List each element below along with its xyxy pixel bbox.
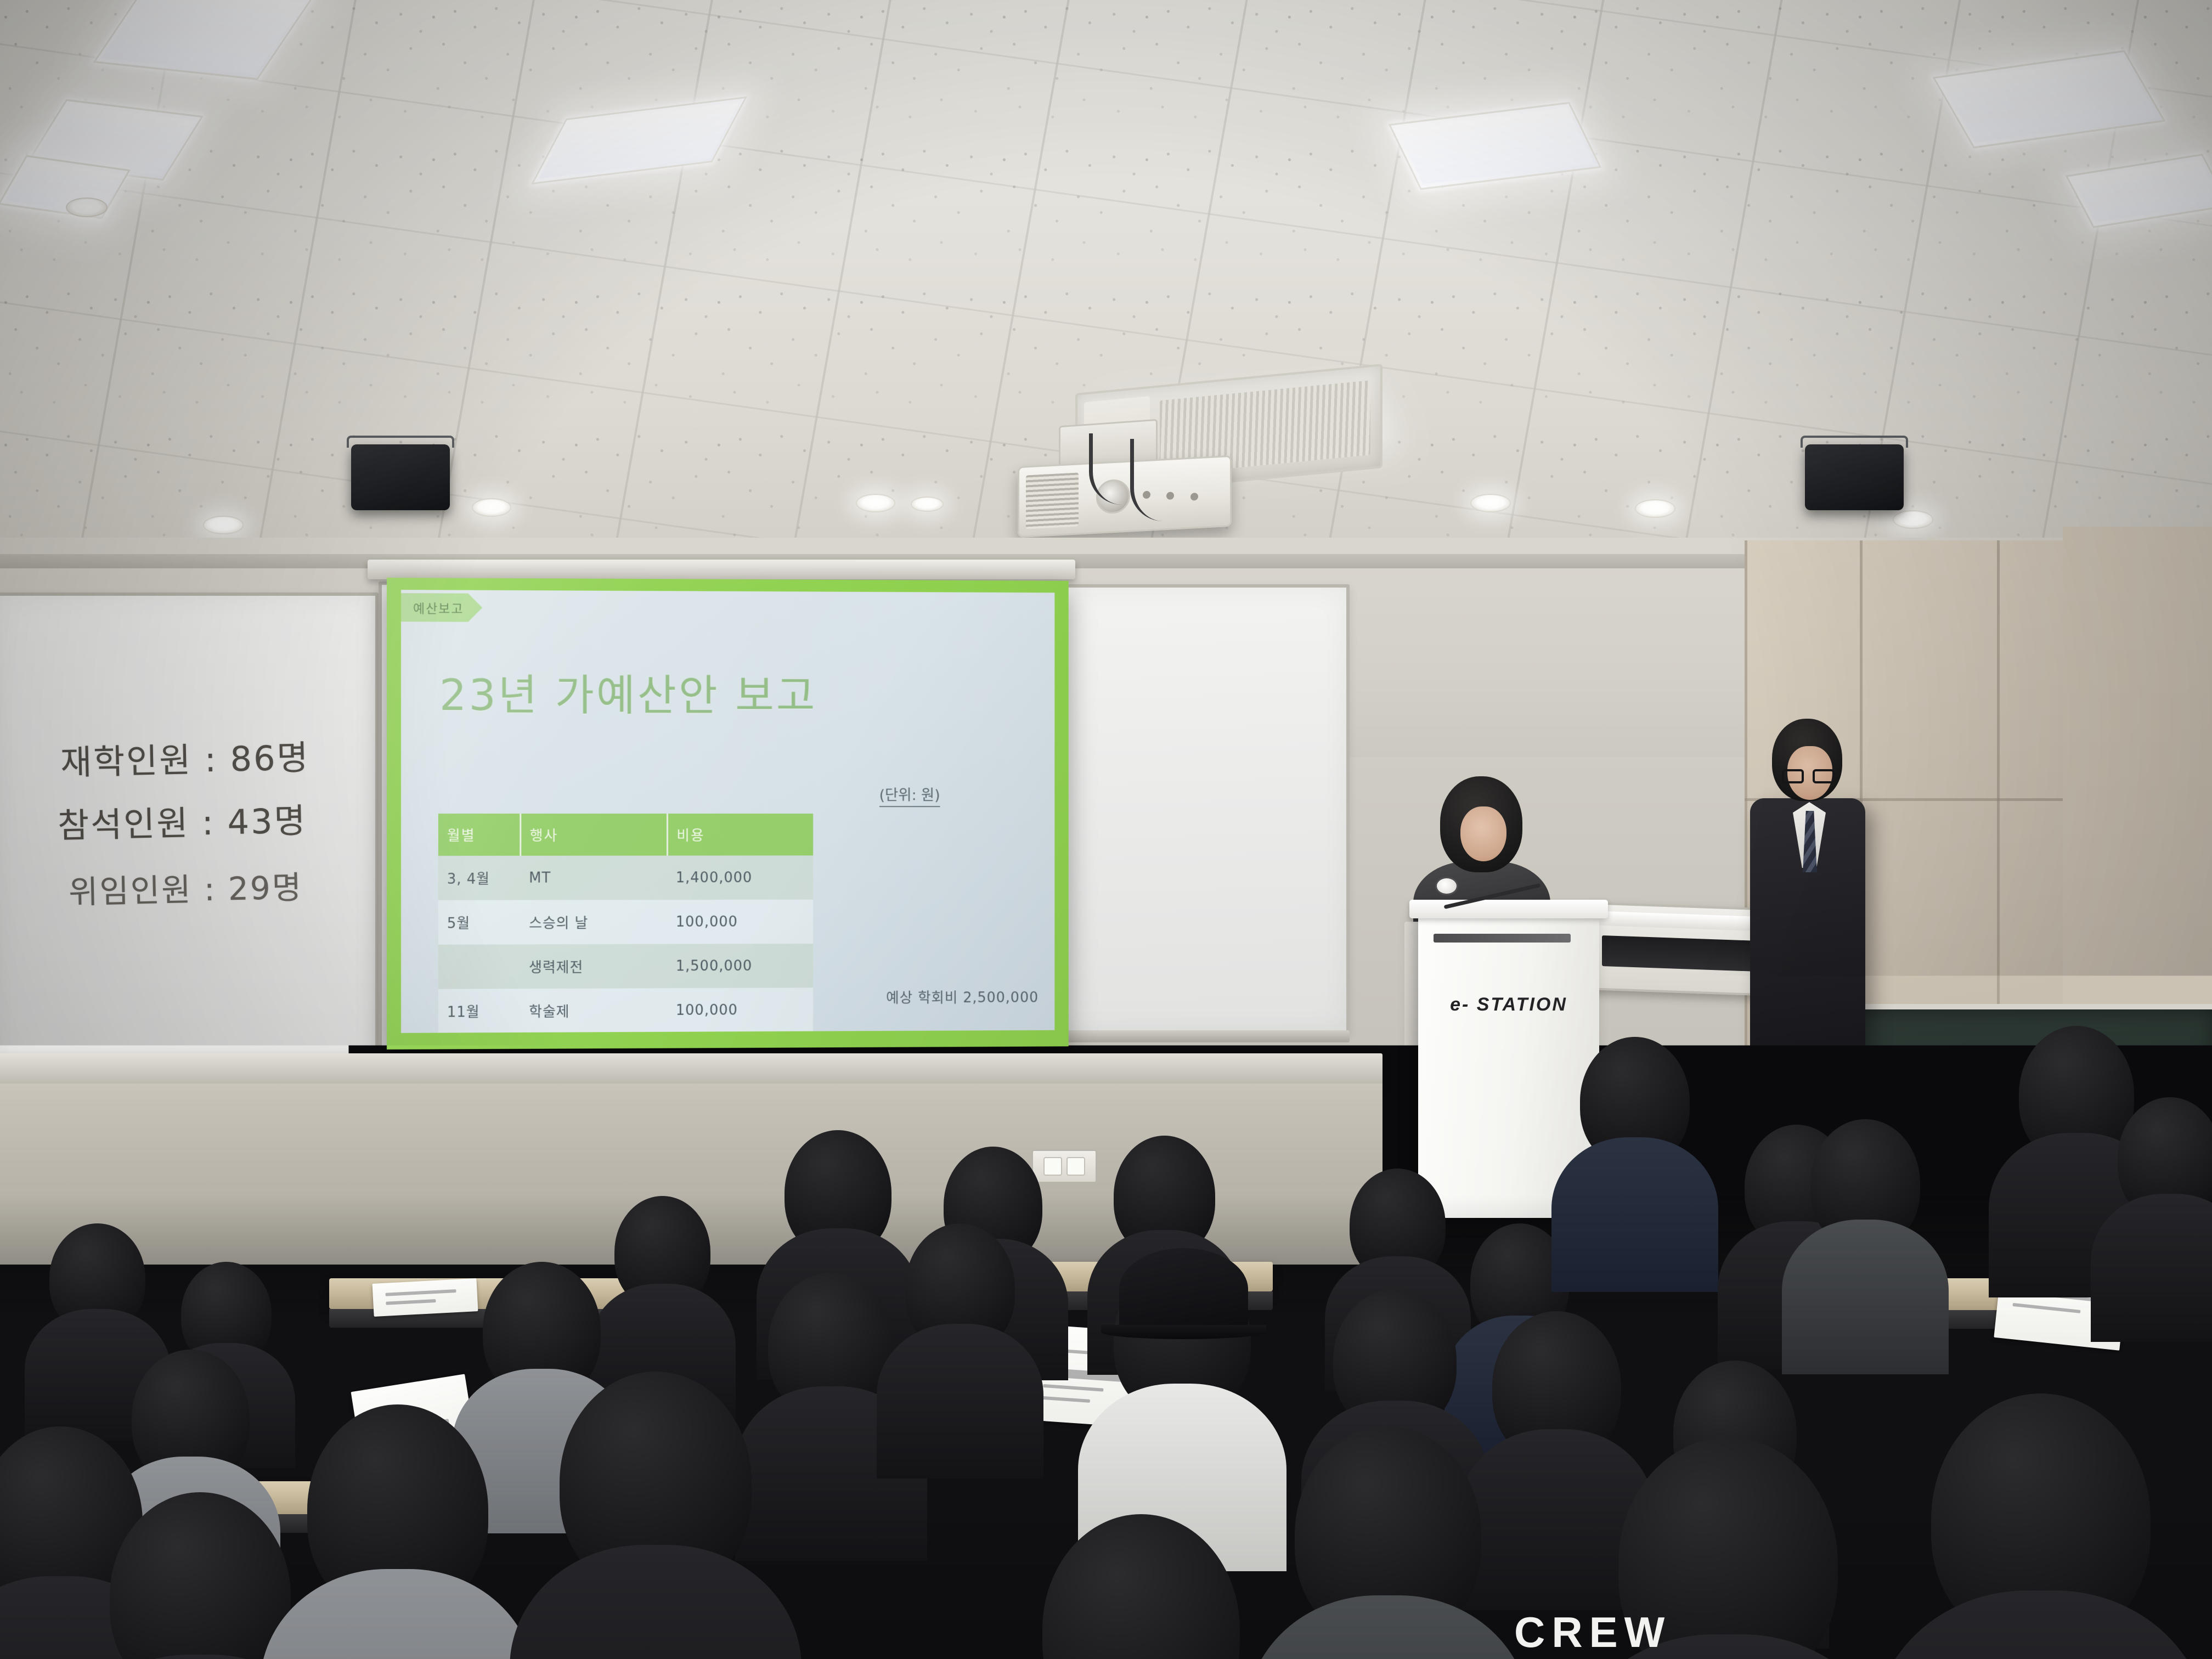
cap-brim — [1101, 1325, 1266, 1339]
podium-stripe — [1434, 934, 1571, 943]
ceiling-downlight — [1893, 510, 1933, 529]
audience-member — [905, 1223, 1015, 1352]
audience-member — [1350, 1169, 1446, 1281]
audience-member — [307, 1404, 488, 1616]
cell-event: MT — [520, 856, 667, 900]
shoulders — [1782, 1220, 1949, 1374]
podium-logo: e- STATION — [1418, 994, 1599, 1015]
slide-canvas: 예산보고 23년 가예산안 보고 (단위: 원) 월별 행사 비용 3, 4월 — [401, 590, 1054, 1033]
audience-member — [1042, 1514, 1240, 1659]
table-row: 3, 4월 MT 1,400,000 — [438, 855, 813, 900]
slide-unit-note: (단위: 원) — [879, 783, 940, 808]
handout-text-line — [1043, 1384, 1103, 1392]
audience-member — [2118, 1097, 2212, 1221]
audience-member — [2019, 1026, 2134, 1163]
handout-text-line — [386, 1299, 436, 1305]
ceiling-downlight — [1635, 499, 1675, 518]
speaker-bracket — [347, 436, 454, 448]
ceiling-projector — [1018, 455, 1232, 538]
audience-member — [1492, 1311, 1621, 1462]
projector-port — [1190, 493, 1198, 501]
speaker-bracket — [1801, 436, 1908, 448]
projection-screen-housing — [368, 560, 1075, 579]
rack-shelf — [1593, 911, 1767, 931]
head — [1042, 1514, 1240, 1659]
cell-event: 학술제 — [520, 988, 667, 1033]
cell-cost: 100,000 — [667, 900, 813, 944]
cell-month — [438, 1033, 520, 1049]
whiteboard-line-proxy: 위임인원 : 29명 — [68, 862, 303, 913]
whiteboard-right[interactable] — [1042, 584, 1350, 1034]
projector-vent-grill — [1026, 472, 1079, 529]
projection-screen: 예산보고 23년 가예산안 보고 (단위: 원) 월별 행사 비용 3, 4월 — [387, 578, 1069, 1049]
audience-member — [1931, 1393, 2151, 1646]
audience-member — [785, 1481, 988, 1659]
table-row: 농학인의 밤 1,000,000 — [438, 1032, 813, 1049]
column-header-event: 행사 — [520, 814, 667, 856]
printed-handout[interactable] — [373, 1278, 478, 1317]
handout-text-line — [2012, 1303, 2080, 1313]
cell-event: 농학인의 밤 — [520, 1032, 667, 1049]
audience-member — [768, 1273, 894, 1418]
lens-left — [1782, 769, 1804, 783]
slide-section-badge: 예산보고 — [401, 593, 482, 622]
column-header-cost: 비용 — [667, 814, 813, 856]
ceiling-downlight — [203, 516, 244, 534]
shoulders — [1551, 1137, 1718, 1292]
rack-equipment-slot — [1602, 935, 1758, 972]
wall-speaker — [351, 444, 450, 510]
ceiling-downlight — [856, 494, 895, 512]
eyeglasses-icon — [1782, 769, 1835, 783]
microphone-head — [1435, 877, 1458, 895]
whiteboard-line-enrolled: 재학인원 : 86명 — [60, 730, 310, 784]
audience-member — [1114, 1136, 1215, 1256]
presentation-slide: 예산보고 23년 가예산안 보고 (단위: 원) 월별 행사 비용 3, 4월 — [387, 578, 1069, 1049]
ceiling-downlight — [911, 496, 944, 512]
hoodie-crew-text: CREW — [1514, 1607, 1671, 1657]
handout-text-line — [1042, 1396, 1091, 1403]
outlet-socket — [1066, 1157, 1085, 1176]
outlet-socket — [1043, 1157, 1062, 1176]
table-row: 11월 학술제 100,000 — [438, 988, 813, 1033]
ceiling-downlight — [472, 498, 511, 517]
audience-member — [785, 1130, 891, 1256]
presenter-face — [1460, 806, 1506, 861]
baseball-cap — [1119, 1248, 1248, 1330]
cell-cost: 100,000 — [667, 988, 813, 1032]
audience-member — [560, 1372, 752, 1594]
ceiling-downlight — [66, 198, 108, 217]
microphone-arm — [1444, 883, 1541, 909]
audience-member — [1295, 1426, 1481, 1643]
cell-event: 스승의 날 — [520, 900, 667, 944]
slide-title: 23년 가예산안 보고 — [439, 661, 817, 723]
cell-cost: 1,400,000 — [667, 855, 813, 900]
budget-table: 월별 행사 비용 3, 4월 MT 1,400,000 5월 — [438, 814, 813, 1049]
head — [110, 1492, 291, 1659]
table-row: 생력제전 1,500,000 — [438, 944, 813, 989]
cell-cost: 1,000,000 — [667, 1032, 813, 1049]
head — [785, 1481, 988, 1659]
shoulders — [877, 1324, 1043, 1479]
av-equipment-rack — [1591, 902, 1769, 996]
cell-month: 3, 4월 — [438, 856, 520, 900]
wall-speaker — [1805, 444, 1904, 510]
wall-seam — [1745, 540, 1747, 1122]
audience-member — [614, 1196, 710, 1308]
column-header-month: 월별 — [438, 814, 520, 856]
audience-member — [1580, 1037, 1690, 1166]
handout-text-line — [385, 1289, 456, 1296]
cell-month — [438, 944, 520, 989]
audience-member — [132, 1350, 250, 1487]
cell-event: 생력제전 — [520, 944, 667, 989]
audience-member — [1333, 1289, 1457, 1432]
audience-member — [110, 1492, 291, 1659]
ceiling-downlight — [1470, 494, 1511, 512]
table-header-row: 월별 행사 비용 — [438, 814, 813, 856]
table-row: 5월 스승의 날 100,000 — [438, 900, 813, 945]
audience-member — [49, 1223, 145, 1333]
slide-footer-note: 예상 학회비 2,500,000 — [886, 986, 1039, 1007]
cell-month: 5월 — [438, 900, 520, 945]
whiteboard-line-attending: 참석인원 : 43명 — [57, 793, 307, 847]
lecture-hall-photo: 재학인원 : 86명 참석인원 : 43명 위임인원 : 29명 예산보고 23… — [0, 0, 2212, 1659]
audience-member — [1810, 1119, 1920, 1248]
microphone — [1443, 856, 1558, 916]
cell-cost: 1,500,000 — [667, 944, 813, 988]
cell-month: 11월 — [438, 989, 520, 1033]
lens-right — [1813, 769, 1835, 783]
whiteboard-marker-tray — [1042, 1030, 1350, 1042]
front-counter-top — [0, 1053, 1383, 1086]
